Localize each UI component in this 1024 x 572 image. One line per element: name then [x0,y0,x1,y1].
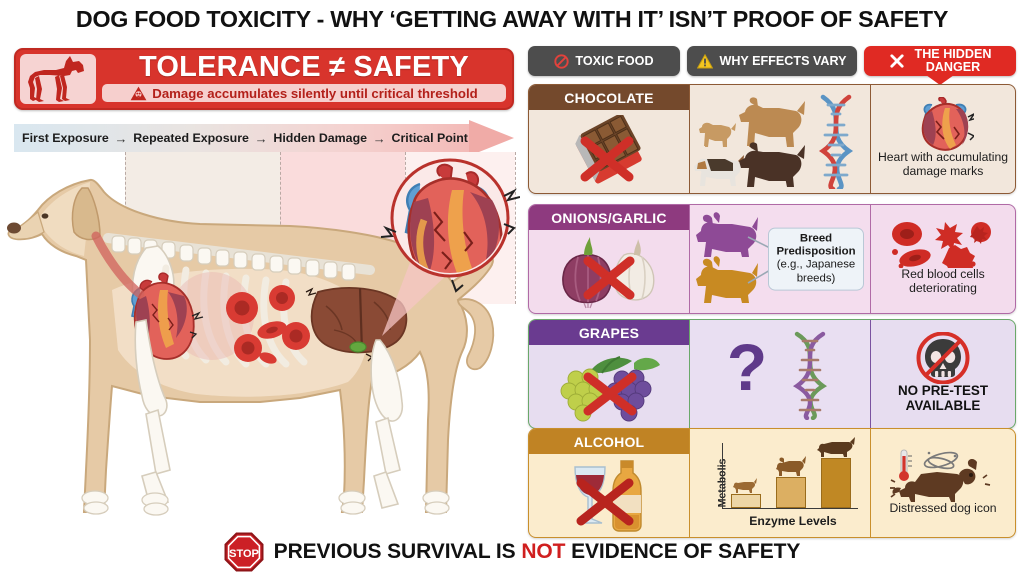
beagle-dog-icon [694,155,744,186]
bb-text-after: EVIDENCE OF SAFETY [565,540,800,563]
bar-large [821,458,851,508]
stop-sign-icon: STOP [224,532,264,572]
thermometer-icon [899,450,912,481]
damaged-red-blood-cells-icon [887,220,999,268]
tolerance-headline: TOLERANCE ≠ SAFETY [102,51,506,84]
tolerance-banner: TOLERANCE ≠ SAFETY Damage accumulates si… [14,48,514,110]
onions-danger-caption: Red blood cells deteriorating [875,268,1011,295]
spiky-cell [935,222,963,251]
table-row-alcohol: ALCOHOL [528,428,1016,538]
skull-hazard-triangle-icon [130,86,147,101]
cracked-heart-icon [912,97,974,151]
table-row-onions-garlic: ONIONS/GARLIC [528,204,1016,314]
tolerance-subtext: Damage accumulates silently until critic… [152,86,477,101]
right-panel: TOXIC FOOD WHY EFFECTS VARY THE HIDDEN D… [528,46,1016,528]
tolerance-subtext-bar: Damage accumulates silently until critic… [102,84,506,102]
grapes-danger-caption: NO PRE-TEST AVAILABLE [875,384,1011,413]
grapes-label: GRAPES [529,320,689,345]
tab-toxic-food-label: TOXIC FOOD [575,54,653,68]
onions-name-cell: ONIONS/GARLIC [529,205,689,313]
skull-prohibited-icon [915,332,971,384]
tab-bar: TOXIC FOOD WHY EFFECTS VARY THE HIDDEN D… [528,46,1016,76]
purple-shiba-dog-icon [696,212,758,257]
small-dog-icon [733,477,759,493]
dna-helix-icon [797,334,823,418]
tab-the-hidden-danger[interactable]: THE HIDDEN DANGER [864,46,1016,76]
shiba-dogs-group [692,209,772,309]
bar-small [731,494,761,508]
breed-predisposition-callout: Breed Predisposition (e.g., Japanese bre… [768,228,864,291]
dog-anatomy-illustration [0,140,520,535]
dark-brown-dog-icon [739,142,805,187]
bb-emphasis: NOT [521,540,565,563]
tab-toxic-food[interactable]: TOXIC FOOD [528,46,680,76]
grapes-variation-cell: ? [689,320,871,428]
chocolate-dogs-dna-group [691,89,869,189]
infographic-canvas: DOG FOOD TOXICITY - WHY ‘GETTING AWAY WI… [0,0,1024,572]
alcohol-food-art [529,454,689,537]
alcohol-danger-cell: Distressed dog icon [871,429,1015,537]
tab-the-hidden-danger-label: THE HIDDEN DANGER [915,48,992,74]
tolerance-text-block: TOLERANCE ≠ SAFETY Damage accumulates si… [96,50,512,108]
bb-text-before: PREVIOUS SURVIVAL IS [274,540,522,563]
distressed-dog-thermometer-dizzy-icon [889,448,997,502]
chart-bar-2 [776,456,806,508]
no-entry-icon [554,54,569,69]
chocolate-danger-cell: Heart with accumulating damage marks [871,85,1015,193]
large-dog-icon [817,437,855,457]
chocolate-label: CHOCOLATE [529,85,689,110]
chart-plot-area [722,443,858,509]
tab-why-effects-vary[interactable]: WHY EFFECTS VARY [687,46,857,76]
tab-why-effects-vary-label: WHY EFFECTS VARY [719,54,846,68]
dizzy-icon [923,450,959,471]
gold-shiba-dog-icon [696,256,758,303]
onions-label: ONIONS/GARLIC [529,205,689,230]
grapes-crossed-out-icon [550,349,668,425]
warning-triangle-icon [697,54,713,69]
breed-callout-detail: (e.g., Japanese breeds) [777,259,856,284]
table-row-chocolate: CHOCOLATE [528,84,1016,194]
chart-bar-1 [731,477,761,508]
bar-medium [776,477,806,508]
chart-bar-3 [821,437,851,508]
onion-garlic-crossed-out-icon [554,235,664,309]
alcohol-variation-cell: Metabolis [689,429,871,537]
large-tan-dog-icon [739,97,805,147]
chocolate-variation-cell [689,85,871,193]
chocolate-name-cell: CHOCOLATE [529,85,689,193]
wine-glass-beer-bottle-crossed-out-icon [557,457,661,535]
onions-food-art [529,230,689,313]
x-mark-icon [889,53,905,69]
alcohol-danger-caption: Distressed dog icon [889,502,996,516]
breed-callout-title: Breed Predisposition [776,233,856,259]
bottom-banner-text: PREVIOUS SURVIVAL IS NOT EVIDENCE OF SAF… [274,540,801,564]
metabolism-bar-chart: Metabolis [696,437,864,529]
grapes-food-art [529,345,689,428]
page-title: DOG FOOD TOXICITY - WHY ‘GETTING AWAY WI… [5,6,1019,33]
tolerance-dog-icon-box [20,54,96,104]
onions-danger-cell: Red blood cells deteriorating [871,205,1015,313]
medium-dog-icon [776,456,806,476]
chocolate-food-art [529,110,689,193]
chocolate-danger-caption: Heart with accumulating damage marks [875,151,1011,178]
question-dna-group: ? [705,328,855,420]
stop-sign-label: STOP [229,548,259,560]
grapes-danger-cell: NO PRE-TEST AVAILABLE [871,320,1015,428]
alcohol-name-cell: ALCOHOL [529,429,689,537]
chocolate-bar-crossed-out-icon [561,115,657,189]
alcohol-label: ALCOHOL [529,429,689,454]
table-row-grapes: GRAPES [528,319,1016,429]
chart-x-axis-label: Enzyme Levels [722,514,864,528]
grapes-name-cell: GRAPES [529,320,689,428]
question-mark-icon: ? [727,330,767,404]
onions-variation-cell: Breed Predisposition (e.g., Japanese bre… [689,205,871,313]
small-tan-dog-icon [699,123,736,147]
dog-silhouette-icon [26,55,90,103]
dna-helix-icon [823,97,849,189]
